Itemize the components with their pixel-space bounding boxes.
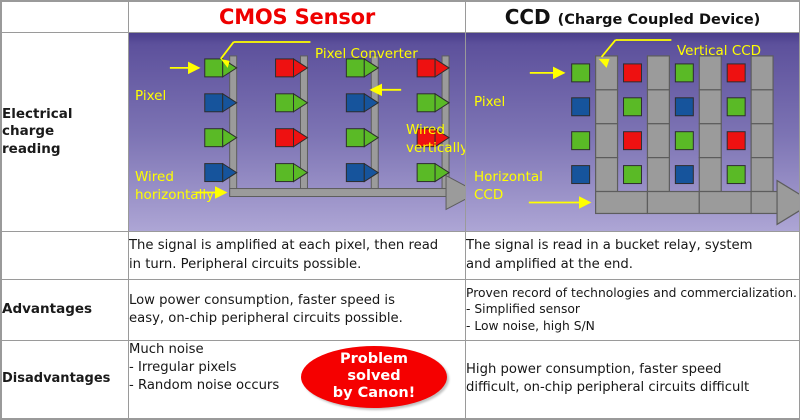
description-ccd: The signal is read in a bucket relay, sy… <box>466 232 800 280</box>
ccd-label-horizontal-ccd-line1: Horizontal <box>474 170 543 186</box>
ccd-pixel-cell <box>624 166 642 184</box>
advantages-ccd: Proven record of technologies and commer… <box>466 280 800 340</box>
cmos-pixel-row-4 <box>205 164 449 182</box>
header-ccd-sub: (Charge Coupled Device) <box>558 12 761 28</box>
advantages-cmos-line-2: easy, on-chip peripheral circuits possib… <box>129 310 465 328</box>
table-row-description: The signal is amplified at each pixel, t… <box>2 232 800 280</box>
disadvantages-ccd-line-1: High power consumption, faster speed <box>466 361 799 379</box>
ccd-pixel-cell <box>624 132 642 150</box>
description-ccd-line-1: The signal is read in a bucket relay, sy… <box>466 237 799 255</box>
ccd-horizontal-row <box>596 192 781 214</box>
ccd-pixel-cell <box>727 98 745 116</box>
ccd-pixel-cell <box>572 64 590 82</box>
description-ccd-line-2: and amplified at the end. <box>466 256 799 274</box>
cmos-horizontal-wire <box>230 189 449 197</box>
ccd-pixel-cell <box>727 64 745 82</box>
badge-line-2: solved <box>347 368 400 385</box>
cmos-label-wired-horizontally-line1: Wired <box>135 170 174 186</box>
advantages-ccd-line-3: - Low noise, high S/N <box>466 318 799 335</box>
ccd-pixel-cell <box>624 64 642 82</box>
row-label-disadvantages: Disadvantages <box>2 340 129 418</box>
cmos-pixel-row-2 <box>205 94 449 112</box>
ccd-pixel-cell <box>727 132 745 150</box>
cmos-ccd-comparison-table: CMOS Sensor CCD (Charge Coupled Device) … <box>1 1 800 419</box>
header-cmos: CMOS Sensor <box>129 2 466 33</box>
table-row-advantages: Advantages Low power consumption, faster… <box>2 280 800 340</box>
ccd-pixel-cell <box>675 64 693 82</box>
row-label-advantages: Advantages <box>2 280 129 340</box>
cmos-label-wired-vertically-line2: vertically <box>406 141 465 157</box>
header-corner-cell <box>2 2 129 33</box>
ccd-pixel-cell <box>727 166 745 184</box>
badge-line-1: Problem <box>340 351 408 368</box>
cmos-output-arrow <box>446 176 465 210</box>
ccd-pixel-cell <box>572 98 590 116</box>
description-cmos: The signal is amplified at each pixel, t… <box>129 232 466 280</box>
cmos-label-pixel: Pixel <box>135 89 166 105</box>
badge-line-3: by Canon! <box>333 385 416 402</box>
ccd-pixel-cell <box>675 166 693 184</box>
advantages-cmos: Low power consumption, faster speed is e… <box>129 280 466 340</box>
advantages-ccd-line-2: - Simplified sensor <box>466 301 799 318</box>
comparison-table-sheet: CMOS Sensor CCD (Charge Coupled Device) … <box>0 0 800 420</box>
description-cmos-line-2: in turn. Peripheral circuits possible. <box>129 256 465 274</box>
cmos-label-wired-horizontally-line2: horizontally <box>135 188 214 204</box>
disadvantages-cmos: Much noise - Irregular pixels - Random n… <box>129 340 466 418</box>
problem-solved-by-canon-badge: Problem solved by Canon! <box>301 346 447 408</box>
row-label-line-1: Electrical <box>2 106 128 123</box>
table-header-row: CMOS Sensor CCD (Charge Coupled Device) <box>2 2 800 33</box>
ccd-pixel-cell <box>624 98 642 116</box>
row-label-electrical-charge-reading: Electrical charge reading <box>2 33 129 232</box>
table-row-electrical-charge-reading: Electrical charge reading <box>2 33 800 232</box>
advantages-ccd-line-1: Proven record of technologies and commer… <box>466 285 799 302</box>
ccd-label-horizontal-ccd-line2: CCD <box>474 188 503 204</box>
ccd-diagram: Pixel Vertical CCD Horizontal CCD <box>466 33 799 231</box>
description-cmos-line-1: The signal is amplified at each pixel, t… <box>129 237 465 255</box>
header-ccd: CCD (Charge Coupled Device) <box>466 2 800 33</box>
disadvantages-cmos-wrap: Much noise - Irregular pixels - Random n… <box>129 341 465 418</box>
ccd-pixel-cell <box>675 98 693 116</box>
advantages-cmos-line-1: Low power consumption, faster speed is <box>129 292 465 310</box>
ccd-output-arrow <box>777 181 799 225</box>
ccd-pixel-cell <box>572 166 590 184</box>
cmos-label-wired-vertically-line1: Wired <box>406 123 445 139</box>
ccd-label-pixel: Pixel <box>474 95 505 111</box>
row-label-line-3: reading <box>2 141 128 158</box>
vertical-ccd-leader-diag <box>602 40 616 57</box>
table-row-disadvantages: Disadvantages Much noise - Irregular pix… <box>2 340 800 418</box>
row-label-line-2: charge <box>2 123 128 140</box>
cmos-diagram-cell: Pixel Pixel Converter Wired vertically W… <box>129 33 466 232</box>
ccd-diagram-cell: Pixel Vertical CCD Horizontal CCD <box>466 33 800 232</box>
disadvantages-ccd: High power consumption, faster speed dif… <box>466 340 800 418</box>
ccd-label-vertical-ccd: Vertical CCD <box>677 44 761 60</box>
ccd-diagram-svg <box>466 33 799 230</box>
header-ccd-main: CCD <box>505 5 551 29</box>
description-row-label-empty <box>2 232 129 280</box>
cmos-diagram: Pixel Pixel Converter Wired vertically W… <box>129 33 465 231</box>
disadvantages-ccd-line-2: difficult, on-chip peripheral circuits d… <box>466 379 799 397</box>
cmos-label-pixel-converter: Pixel Converter <box>315 47 418 63</box>
ccd-pixel-cell <box>675 132 693 150</box>
ccd-pixel-cell <box>572 132 590 150</box>
